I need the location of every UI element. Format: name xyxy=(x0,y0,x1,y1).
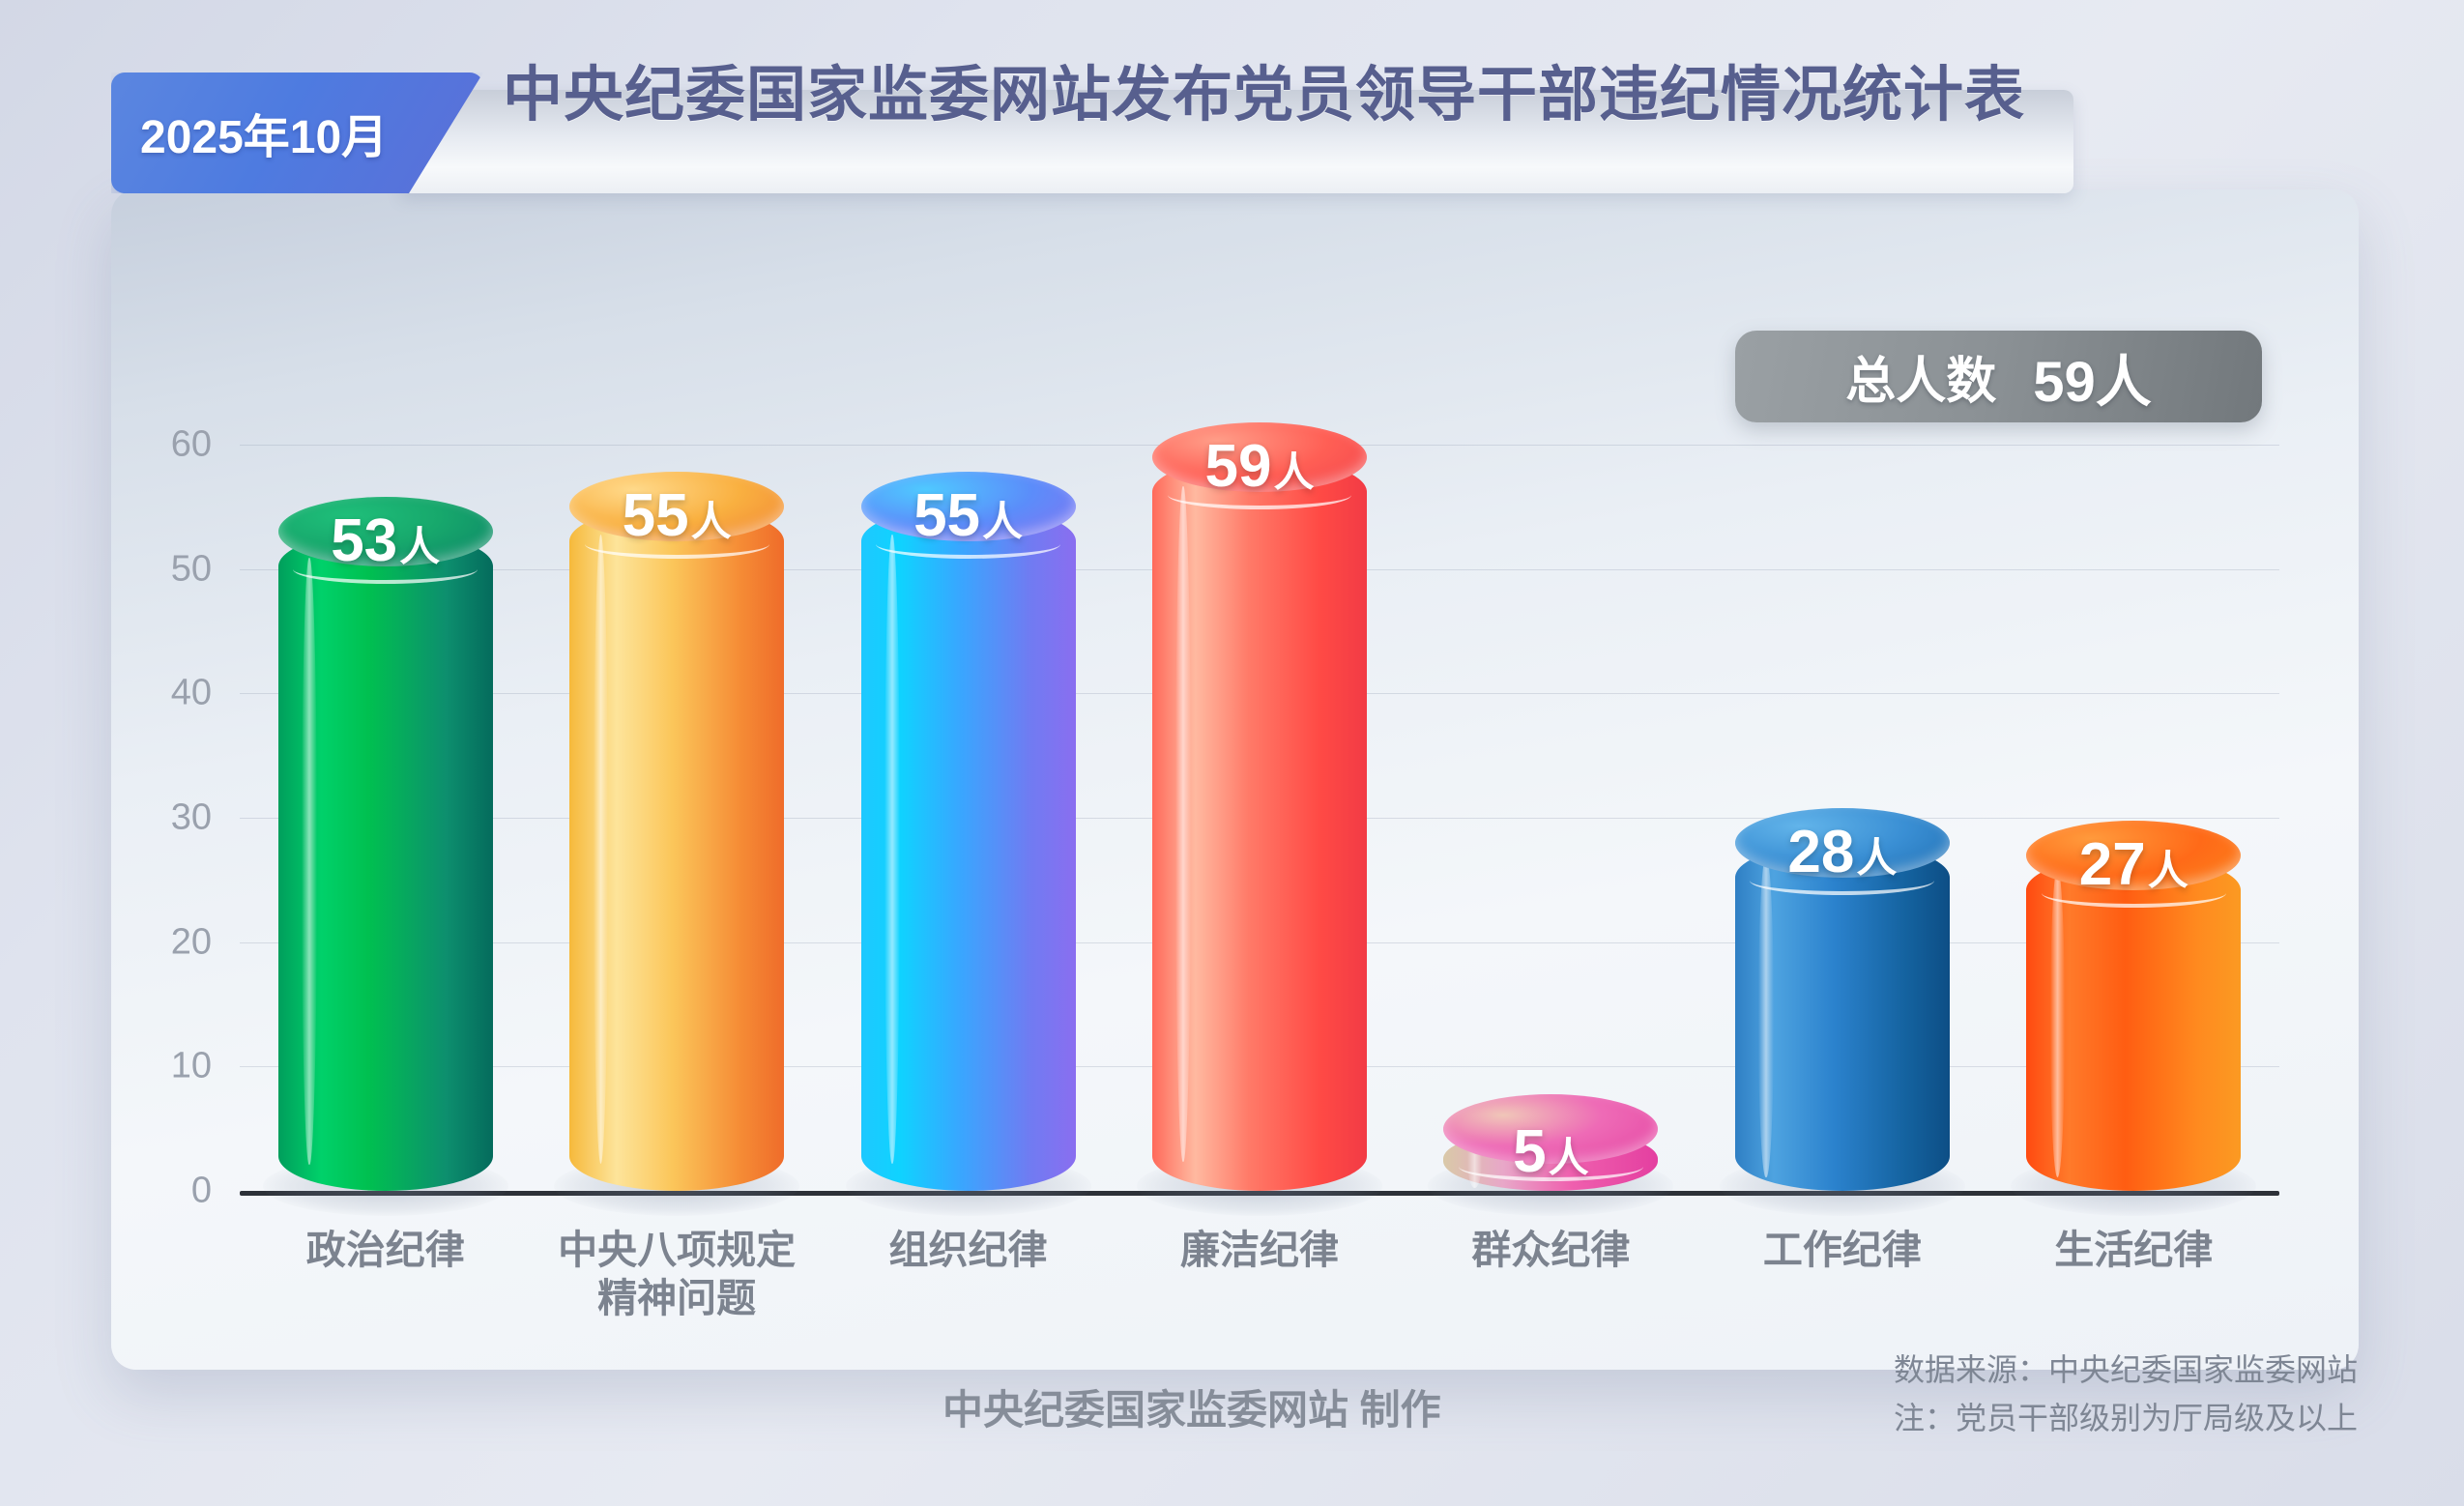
total-count-badge: 总人数 59人 xyxy=(1735,331,2262,422)
y-axis-tick: 30 xyxy=(96,797,212,839)
bar-chart-plot: 010203040506053人政治纪律55人中央八项规定 精神问题55人组织纪… xyxy=(0,0,2464,1506)
x-axis-category-label: 中央八项规定 精神问题 xyxy=(531,1226,822,1322)
bar-body xyxy=(569,507,784,1191)
bar-value-label: 59人 xyxy=(1152,432,1367,501)
bar-cylinder[interactable]: 55人 xyxy=(569,507,784,1191)
bar-value-label: 55人 xyxy=(861,481,1076,550)
bar-body xyxy=(861,507,1076,1191)
bar-value-number: 59 xyxy=(1205,433,1272,500)
bar-body xyxy=(1152,457,1367,1191)
bar-value-number: 5 xyxy=(1513,1118,1546,1185)
x-axis-category-label: 工作纪律 xyxy=(1696,1226,1987,1274)
y-axis-tick: 0 xyxy=(96,1171,212,1212)
x-axis-category-label: 组织纪律 xyxy=(823,1226,1114,1274)
bar-body xyxy=(1735,843,1950,1191)
bar-cylinder[interactable]: 53人 xyxy=(278,532,493,1191)
bar-value-label: 28人 xyxy=(1735,818,1950,886)
bar-cylinder[interactable]: 59人 xyxy=(1152,457,1367,1191)
bar-value-number: 55 xyxy=(913,482,980,549)
bar-value-unit: 人 xyxy=(982,499,1023,544)
bar-cylinder[interactable]: 55人 xyxy=(861,507,1076,1191)
bar-body xyxy=(278,532,493,1191)
bar-body xyxy=(2026,855,2241,1191)
x-axis-category-label: 群众纪律 xyxy=(1406,1226,1696,1274)
bar-cylinder[interactable]: 5人 xyxy=(1443,1129,1658,1191)
x-axis-category-label: 生活纪律 xyxy=(1988,1226,2279,1274)
y-axis-tick: 60 xyxy=(96,424,212,466)
bar-value-number: 53 xyxy=(331,507,397,574)
bar-value-unit: 人 xyxy=(399,524,440,569)
total-count-label: 总人数 xyxy=(1845,340,1996,413)
bar-value-unit: 人 xyxy=(1856,835,1897,881)
bar-value-label: 53人 xyxy=(278,507,493,575)
x-axis-category-label: 廉洁纪律 xyxy=(1114,1226,1405,1274)
bar-value-number: 55 xyxy=(623,482,689,549)
bar-value-unit: 人 xyxy=(2148,848,2189,893)
y-axis-tick: 50 xyxy=(96,548,212,590)
bar-value-number: 27 xyxy=(2079,831,2146,898)
bar-value-number: 28 xyxy=(1787,819,1854,885)
y-axis-tick: 10 xyxy=(96,1046,212,1087)
total-count-value: 59人 xyxy=(2033,336,2152,418)
bar-value-label: 5人 xyxy=(1443,1117,1658,1186)
y-axis-tick: 20 xyxy=(96,921,212,963)
bar-value-unit: 人 xyxy=(1273,449,1314,495)
bar-value-unit: 人 xyxy=(691,499,732,544)
page-title: 中央纪委国家监委网站发布党员领导干部违纪情况统计表 xyxy=(503,45,2025,132)
bar-cylinder[interactable]: 28人 xyxy=(1735,843,1950,1191)
bar-value-label: 27人 xyxy=(2026,830,2241,899)
date-badge-label: 2025年10月 xyxy=(140,99,388,166)
bar-cylinder[interactable]: 27人 xyxy=(2026,855,2241,1191)
y-axis-tick: 40 xyxy=(96,673,212,714)
bar-value-unit: 人 xyxy=(1549,1135,1589,1180)
x-axis-category-label: 政治纪律 xyxy=(240,1226,531,1274)
bar-value-label: 55人 xyxy=(569,481,784,550)
